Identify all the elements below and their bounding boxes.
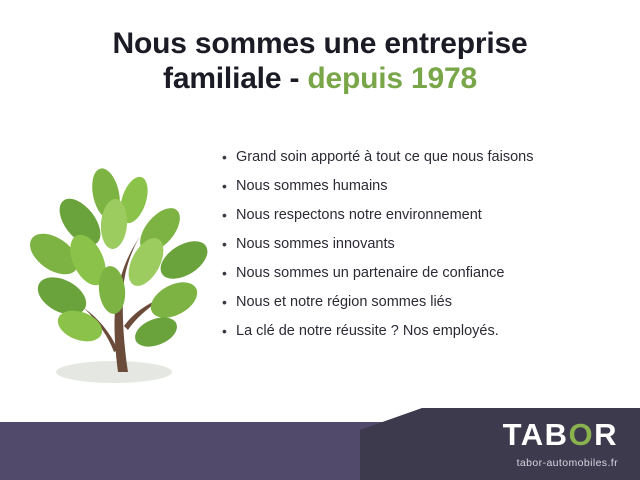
list-item-label: La clé de notre réussite ? Nos employés.: [236, 322, 499, 340]
brand-text-accent: O: [568, 417, 594, 452]
list-item: • Nous sommes innovants: [222, 235, 622, 253]
bullet-marker-icon: •: [222, 148, 236, 166]
title-line-2-main: familiale -: [163, 62, 299, 95]
footer-bar: TABOR tabor-automobiles.fr: [0, 408, 640, 480]
title-line-2: familiale - depuis 1978: [0, 61, 640, 96]
bullet-marker-icon: •: [222, 264, 236, 282]
list-item-label: Grand soin apporté à tout ce que nous fa…: [236, 148, 533, 166]
slide-canvas: Nous sommes une entreprise familiale - d…: [0, 0, 640, 480]
title-line-1: Nous sommes une entreprise: [0, 26, 640, 61]
list-item: • Nous et notre région sommes liés: [222, 293, 622, 311]
brand-text-part1: TAB: [503, 417, 569, 452]
list-item: • Nous sommes un partenaire de confiance: [222, 264, 622, 282]
list-item-label: Nous et notre région sommes liés: [236, 293, 452, 311]
bullet-marker-icon: •: [222, 177, 236, 195]
brand-logo: TABOR: [503, 419, 618, 450]
tree-svg: [14, 150, 214, 390]
list-item: • Grand soin apporté à tout ce que nous …: [222, 148, 622, 166]
bullet-marker-icon: •: [222, 293, 236, 311]
list-item: • La clé de notre réussite ? Nos employé…: [222, 322, 622, 340]
tree-shadow: [56, 361, 172, 383]
list-item-label: Nous respectons notre environnement: [236, 206, 482, 224]
brand-website: tabor-automobiles.fr: [517, 458, 618, 469]
title-accent-year: depuis 1978: [307, 62, 477, 95]
bullet-marker-icon: •: [222, 235, 236, 253]
page-title: Nous sommes une entreprise familiale - d…: [0, 26, 640, 97]
brand-text-part2: R: [594, 417, 618, 452]
list-item-label: Nous sommes humains: [236, 177, 388, 195]
list-item: • Nous respectons notre environnement: [222, 206, 622, 224]
bullet-list: • Grand soin apporté à tout ce que nous …: [222, 148, 622, 351]
tree-illustration: [14, 150, 214, 390]
list-item: • Nous sommes humains: [222, 177, 622, 195]
list-item-label: Nous sommes innovants: [236, 235, 395, 253]
bullet-marker-icon: •: [222, 322, 236, 340]
bullet-marker-icon: •: [222, 206, 236, 224]
list-item-label: Nous sommes un partenaire de confiance: [236, 264, 504, 282]
